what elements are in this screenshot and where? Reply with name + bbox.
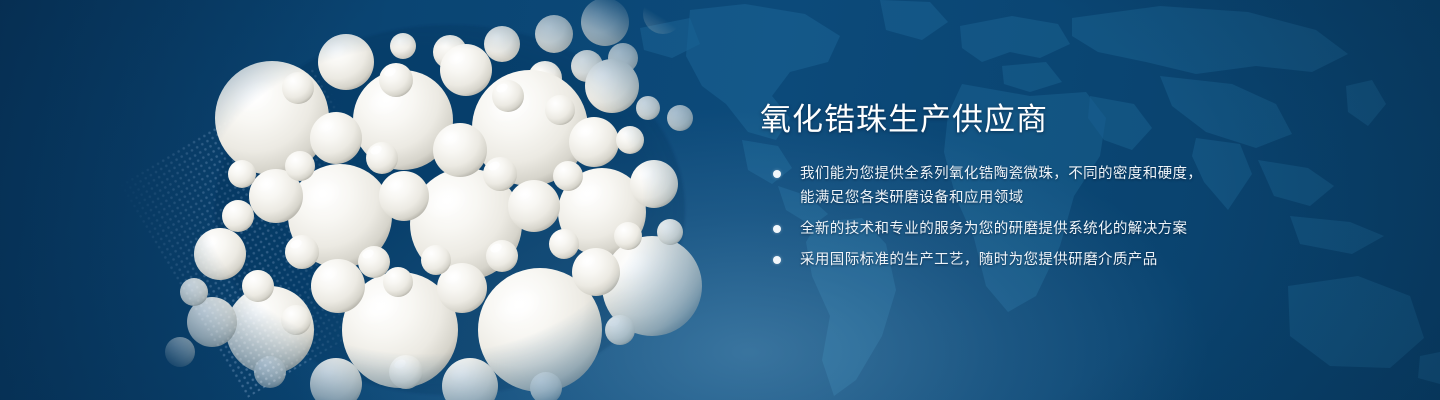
list-item: 我们能为您提供全系列氧化锆陶瓷微珠，不同的密度和硬度， 能满足您各类研磨设备和应… (770, 162, 1380, 210)
list-item-line: 全新的技术和专业的服务为您的研磨提供系统化的解决方案 (800, 217, 1380, 241)
banner-copy: 氧化锆珠生产供应商 我们能为您提供全系列氧化锆陶瓷微珠，不同的密度和硬度， 能满… (760, 100, 1380, 279)
list-item: 全新的技术和专业的服务为您的研磨提供系统化的解决方案 (770, 217, 1380, 241)
bullet-dot-icon (773, 256, 781, 264)
bullet-dot-icon (773, 170, 781, 178)
list-item-line: 我们能为您提供全系列氧化锆陶瓷微珠，不同的密度和硬度， (800, 162, 1380, 186)
bullet-dot-icon (773, 225, 781, 233)
zirconia-beads-photo (150, 0, 720, 400)
hero-banner: 氧化锆珠生产供应商 我们能为您提供全系列氧化锆陶瓷微珠，不同的密度和硬度， 能满… (0, 0, 1440, 400)
page-title: 氧化锆珠生产供应商 (760, 100, 1380, 140)
list-item-line: 能满足您各类研磨设备和应用领域 (800, 186, 1380, 210)
feature-list: 我们能为您提供全系列氧化锆陶瓷微珠，不同的密度和硬度， 能满足您各类研磨设备和应… (770, 162, 1380, 272)
list-item-line: 采用国际标准的生产工艺，随时为您提供研磨介质产品 (800, 248, 1380, 272)
list-item: 采用国际标准的生产工艺，随时为您提供研磨介质产品 (770, 248, 1380, 272)
